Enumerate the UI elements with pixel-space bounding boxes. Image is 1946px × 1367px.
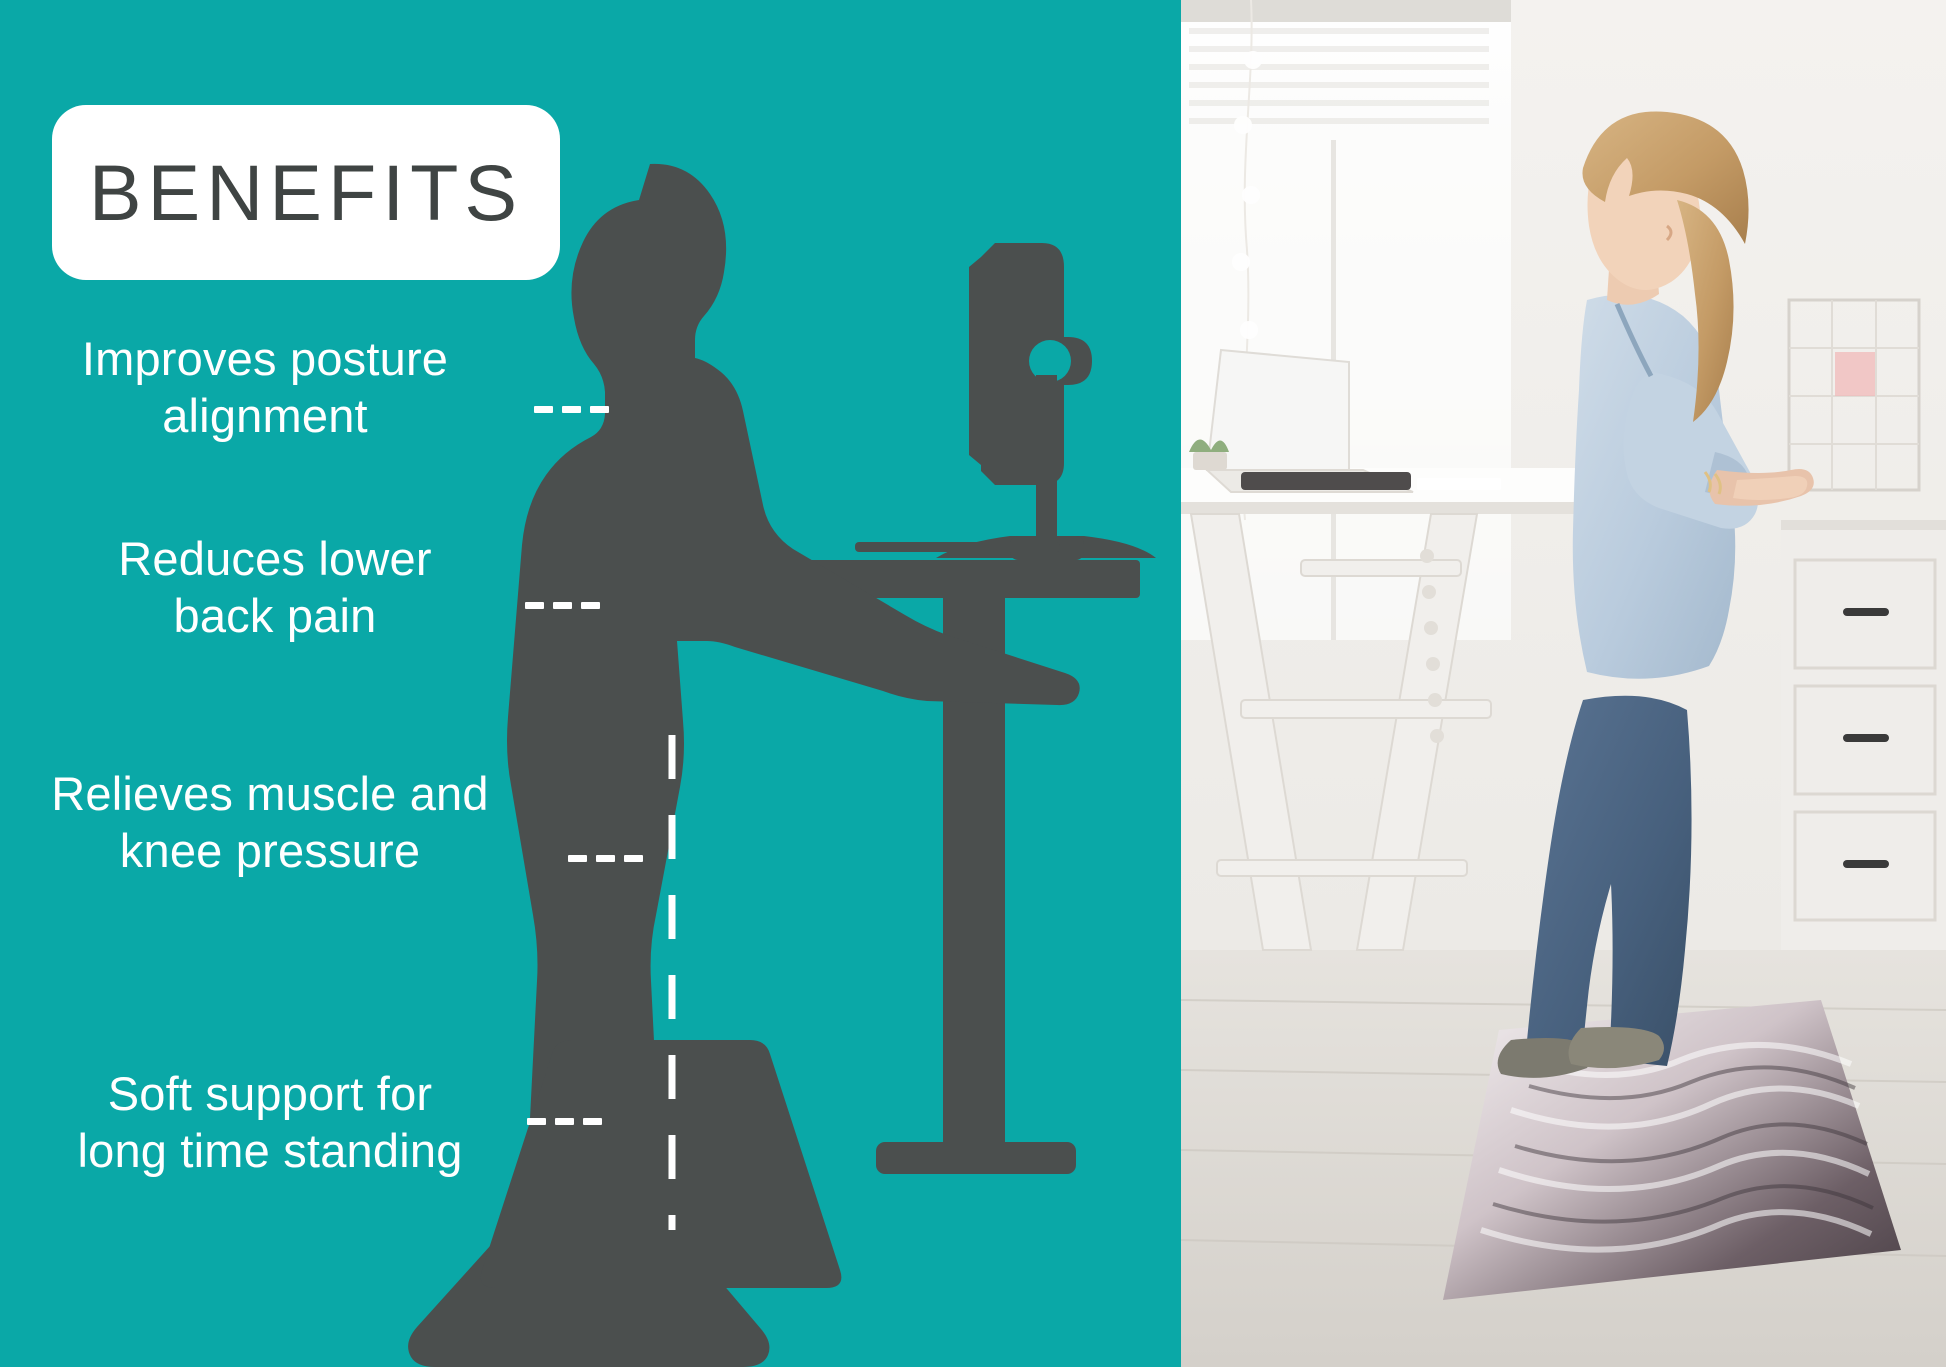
connector-dashes-back-pain [525,602,600,609]
dash-mark [624,855,643,862]
dash-mark [555,1118,574,1125]
benefit-item-soft-support: Soft support for long time standing [25,1065,515,1180]
benefits-title-badge: BENEFITS [52,105,560,280]
dash-mark [527,1118,546,1125]
benefit-item-posture: Improves posture alignment [30,330,500,445]
benefit-item-muscle-knee: Relieves muscle and knee pressure [10,765,530,880]
dash-mark [596,855,615,862]
dash-mark [534,406,553,413]
connector-dashes-muscle-knee [568,855,643,862]
photo-illustration [1181,0,1946,1367]
desk-icon [795,560,1140,598]
benefit-item-back-pain: Reduces lower back pain [40,530,510,645]
benefits-infographic: BENEFITS Improves posture alignment Redu… [0,0,1946,1367]
connector-dashes-soft-support [527,1118,602,1125]
computer-monitor-icon [981,243,1064,485]
connector-dashes-posture [534,406,609,413]
dash-mark [581,602,600,609]
dash-mark [562,406,581,413]
dash-mark [568,855,587,862]
anti-fatigue-mat-icon [481,1040,842,1288]
dash-mark [590,406,609,413]
dash-mark [583,1118,602,1125]
dash-mark [525,602,544,609]
page-title: BENEFITS [89,153,523,232]
keyboard-icon [855,542,1060,552]
lifestyle-photo [1181,0,1946,1367]
dash-mark [553,602,572,609]
benefits-panel: BENEFITS Improves posture alignment Redu… [0,0,1181,1367]
